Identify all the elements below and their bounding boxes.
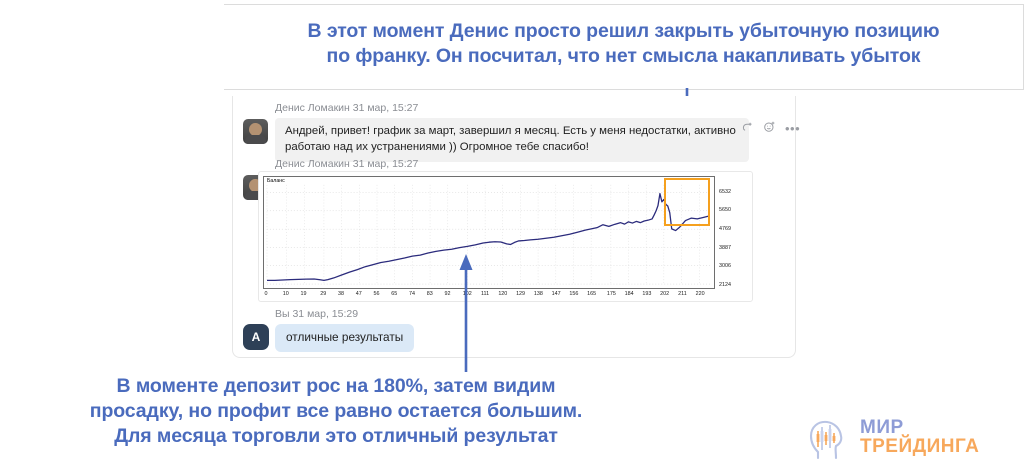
chart-y-tick-label: 3887 bbox=[719, 245, 731, 251]
chart-x-tick-label: 211 bbox=[678, 291, 687, 297]
chart-x-tick-label: 29 bbox=[320, 291, 326, 297]
chart-x-tick-label: 129 bbox=[516, 291, 525, 297]
reply-icon[interactable] bbox=[741, 120, 754, 138]
chart-x-tick-label: 202 bbox=[660, 291, 669, 297]
message-author-timestamp: Денис Ломакин 31 мар, 15:27 bbox=[275, 102, 789, 114]
chart-gridlines bbox=[267, 185, 711, 284]
chart-x-tick-label: 120 bbox=[498, 291, 507, 297]
chart-x-tick-label: 65 bbox=[391, 291, 397, 297]
head-candlestick-icon bbox=[806, 414, 856, 460]
chart-x-tick-label: 147 bbox=[552, 291, 561, 297]
chart-x-tick-label: 184 bbox=[625, 291, 634, 297]
screenshot-root: В этот момент Денис просто решил закрыть… bbox=[0, 0, 1024, 473]
logo-text-line1: МИР bbox=[860, 418, 979, 437]
more-options-icon[interactable]: ••• bbox=[785, 125, 800, 133]
chart-title: Баланс bbox=[266, 178, 286, 184]
chart-x-tick-label: 193 bbox=[642, 291, 651, 297]
chart-x-tick-label: 138 bbox=[534, 291, 543, 297]
avatar[interactable]: A bbox=[243, 324, 269, 350]
chart-y-tick-label: 4769 bbox=[719, 226, 731, 232]
chart-x-tick-label: 83 bbox=[427, 291, 433, 297]
annotation-arrow-bottom bbox=[455, 252, 477, 374]
chart-x-tick-label: 111 bbox=[481, 291, 489, 297]
add-reaction-icon[interactable] bbox=[763, 120, 776, 138]
chart-x-tick-label: 92 bbox=[445, 291, 451, 297]
avatar-initial-letter: A bbox=[252, 330, 261, 344]
drawdown-highlight-box bbox=[664, 178, 710, 226]
message-text: Андрей, привет! график за март, завершил… bbox=[275, 118, 749, 162]
chat-message-group-3: Вы 31 мар, 15:29 A отличные результаты bbox=[243, 308, 789, 352]
chart-y-tick-label: 6532 bbox=[719, 189, 731, 195]
chart-y-tick-label: 3006 bbox=[719, 263, 731, 269]
message-text: отличные результаты bbox=[275, 324, 414, 352]
chart-x-tick-label: 19 bbox=[300, 291, 306, 297]
chart-y-tick-label: 5650 bbox=[719, 207, 731, 213]
chart-x-tick-label: 165 bbox=[587, 291, 596, 297]
message-author-timestamp: Вы 31 мар, 15:29 bbox=[275, 308, 789, 320]
message-author-timestamp: Денис Ломакин 31 мар, 15:27 bbox=[275, 158, 789, 170]
annotation-callout-top: В этот момент Денис просто решил закрыть… bbox=[224, 4, 1024, 90]
chart-x-tick-label: 38 bbox=[338, 291, 344, 297]
chart-series-balance bbox=[267, 194, 709, 281]
avatar[interactable] bbox=[243, 119, 268, 144]
chart-plot-area bbox=[264, 177, 714, 288]
chat-message-group-1: Денис Ломакин 31 мар, 15:27 Андрей, прив… bbox=[243, 102, 789, 162]
logo-text-line2: ТРЕЙДИНГА bbox=[860, 437, 979, 456]
chart-x-tick-label: 156 bbox=[569, 291, 578, 297]
chart-x-tick-label: 47 bbox=[356, 291, 362, 297]
chart-y-tick-label: 2124 bbox=[719, 282, 731, 288]
chart-x-tick-label: 10 bbox=[283, 291, 289, 297]
chart-x-tick-label: 74 bbox=[409, 291, 415, 297]
balance-chart[interactable]: Баланс bbox=[263, 176, 715, 289]
chart-x-tick-label: 56 bbox=[374, 291, 380, 297]
chart-x-axis: 0101929384756657483921021111201291381471… bbox=[263, 289, 715, 301]
chart-x-tick-label: 0 bbox=[265, 291, 268, 297]
chart-x-tick-label: 175 bbox=[607, 291, 616, 297]
brand-logo: МИР ТРЕЙДИНГА bbox=[806, 414, 1006, 464]
message-action-toolbar[interactable]: ••• bbox=[741, 120, 800, 138]
chart-x-tick-label: 220 bbox=[696, 291, 705, 297]
annotation-callout-bottom: В моменте депозит рос на 180%, затем вид… bbox=[0, 372, 672, 460]
chart-y-axis: 653256504769388730062124 bbox=[716, 176, 750, 289]
